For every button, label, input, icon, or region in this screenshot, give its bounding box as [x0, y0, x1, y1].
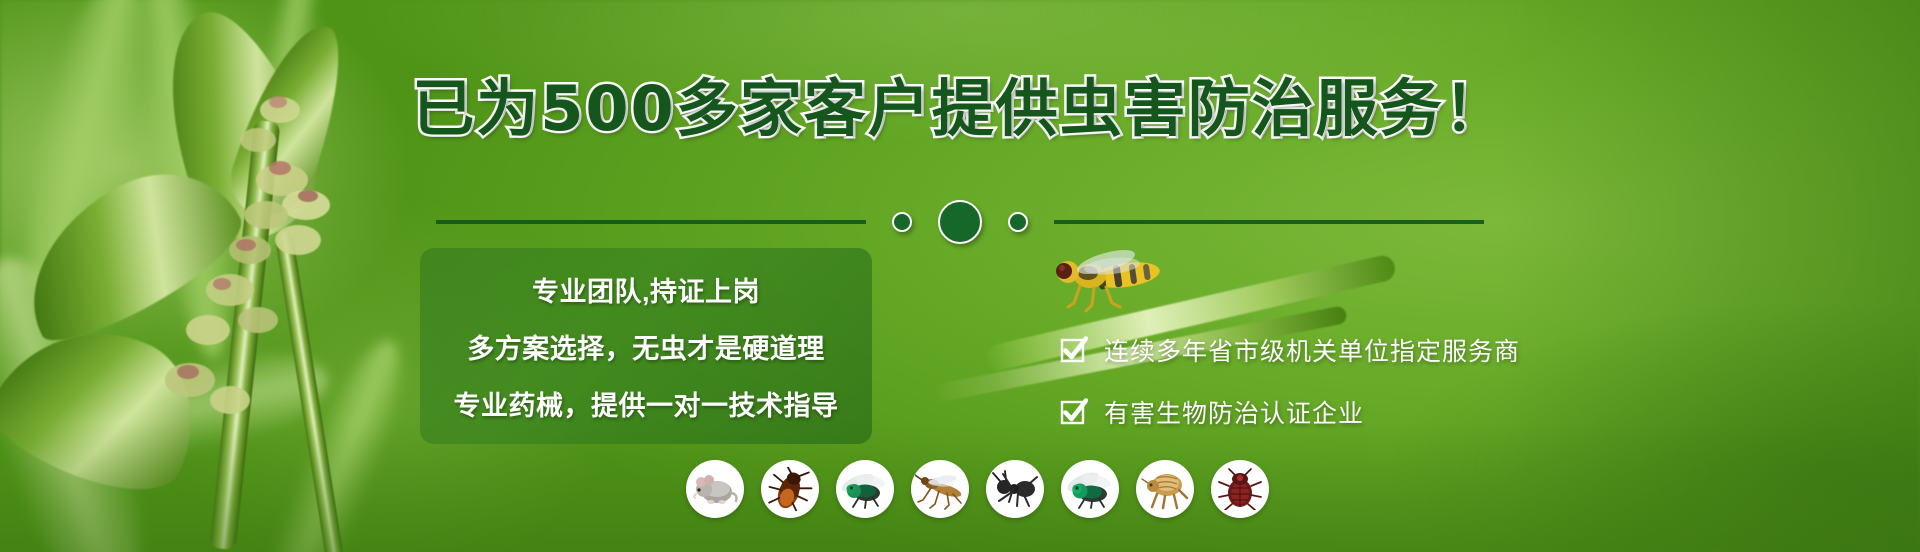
list-item: 有害生物防治认证企业	[1060, 394, 1520, 430]
flea-icon[interactable]	[1136, 460, 1194, 518]
checkbox-checked-icon	[1060, 398, 1088, 426]
promo-banner: 已为500多家客户提供虫害防治服务！ 专业团队,持证上岗 多方案选择，无虫才是硬…	[0, 0, 1920, 552]
bedbug-icon[interactable]	[1211, 460, 1269, 518]
page-title: 已为500多家客户提供虫害防治服务！	[0, 78, 1920, 140]
checkbox-checked-icon	[1060, 336, 1088, 364]
fly-icon[interactable]	[836, 460, 894, 518]
feature-line: 专业药械，提供一对一技术指导	[454, 384, 839, 423]
divider-rule-right	[1054, 220, 1484, 224]
feature-line: 多方案选择，无虫才是硬道理	[467, 327, 825, 366]
feature-box: 专业团队,持证上岗 多方案选择，无虫才是硬道理 专业药械，提供一对一技术指导	[420, 248, 872, 444]
divider	[0, 200, 1920, 244]
mosquito-icon[interactable]	[911, 460, 969, 518]
list-item-label: 有害生物防治认证企业	[1104, 394, 1364, 430]
mouse-icon[interactable]	[686, 460, 744, 518]
divider-dot-large	[938, 200, 982, 244]
cockroach-icon[interactable]	[761, 460, 819, 518]
list-item: 连续多年省市级机关单位指定服务商	[1060, 332, 1520, 368]
ant-icon[interactable]	[986, 460, 1044, 518]
feature-line: 专业团队,持证上岗	[532, 270, 760, 309]
divider-dot-small-left	[892, 212, 912, 232]
certification-list: 连续多年省市级机关单位指定服务商 有害生物防治认证企业	[1060, 332, 1520, 430]
hoverfly-icon	[1040, 245, 1180, 325]
pest-icon-strip	[686, 460, 1269, 518]
divider-dot-small-right	[1008, 212, 1028, 232]
list-item-label: 连续多年省市级机关单位指定服务商	[1104, 332, 1520, 368]
divider-rule-left	[436, 220, 866, 224]
blowfly-icon[interactable]	[1061, 460, 1119, 518]
